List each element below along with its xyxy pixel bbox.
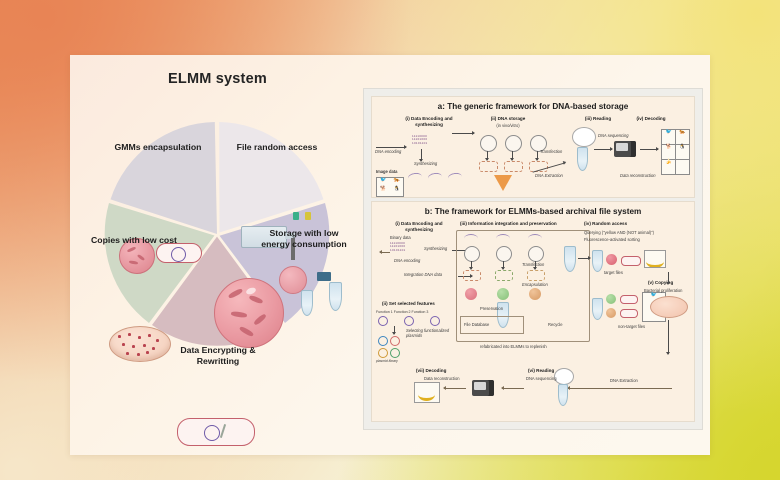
panel-b-note-target-files: target files xyxy=(604,270,623,275)
out-thumb-bird2: 🐧 xyxy=(676,145,689,159)
panel-b-note-plasmid-library: plasmid library xyxy=(376,359,398,363)
panel-b: b: The framework for ELMMs-based archiva… xyxy=(371,201,695,422)
panel-b-target-tube xyxy=(592,250,603,272)
panel-b-note-data-reconstruction: Data reconstruction xyxy=(424,376,460,381)
panel-b-nontarget-capsule-2 xyxy=(620,309,638,318)
panel-b-arrow-extraction xyxy=(568,388,672,389)
figure-card: ELMM system xyxy=(70,55,710,455)
panel-b-arrow-3 xyxy=(394,326,395,334)
panel-a-arrow-9 xyxy=(640,149,658,150)
panel-a-tube-icon xyxy=(577,147,588,171)
segment-label-copies: Copies with low cost xyxy=(78,235,190,246)
panel-b-plasmid-1 xyxy=(378,316,388,326)
encapsulation-capsule-icon xyxy=(156,243,202,263)
panel-b-arrow-decoding xyxy=(444,388,466,389)
panel-b-note-querying: Querying ("yellow AND (NOT animal)") xyxy=(584,230,654,235)
panel-a-arrow-4 xyxy=(487,151,488,160)
panel-a-flask-icon xyxy=(494,175,512,191)
panel-b-lib-2 xyxy=(390,336,400,346)
panel-b-target-bead xyxy=(606,254,617,265)
plasmid-capsule-icon xyxy=(177,418,255,446)
elmm-system-panel: ELMM system xyxy=(70,55,365,455)
panel-a-arrow-6 xyxy=(537,151,538,160)
panel-a-note-image-data: Image data xyxy=(376,169,397,174)
panel-b-target-capsule xyxy=(621,256,641,266)
panel-b-nontarget-bead-1 xyxy=(606,294,616,304)
framework-panels: a: The generic framework for DNA-based s… xyxy=(363,88,703,430)
page-title: ELMM system xyxy=(70,71,365,87)
panel-a-note-dna-extraction: DNA Extraction xyxy=(535,173,563,178)
panel-a-arrow-3 xyxy=(452,133,474,134)
panel-b-note-non-target-files: non-target files xyxy=(618,324,645,329)
segment-label-file: File random access xyxy=(222,142,332,153)
gmm-core-icon xyxy=(214,278,284,348)
panel-a-step-3: (iii) Reading xyxy=(577,116,619,122)
thumb-bird2: 🐧 xyxy=(390,187,403,196)
panel-b-nontarget-tube xyxy=(592,298,603,320)
out-thumb-bird: 🐦 xyxy=(662,130,675,144)
panel-b-petri-icon xyxy=(650,296,688,318)
panel-b-note-fluorescence: Fluorescence-activated sorting xyxy=(584,237,640,242)
out-thumb-banana: 🍌 xyxy=(662,160,675,174)
panel-a-note-data-reconstruction: Data reconstruction xyxy=(620,173,656,178)
tube-freezer-icon xyxy=(279,266,307,294)
panel-b-plasmid-2 xyxy=(404,316,414,326)
segment-label-storage: Storage with low energy consumption xyxy=(256,228,352,250)
panel-b-sequencer-icon xyxy=(472,380,494,396)
panel-b-note-binary-data: Binary data xyxy=(390,235,411,240)
panel-a-cell-1 xyxy=(480,135,497,152)
panel-b-note-functions: Function 1 Function 2 Function 3 xyxy=(376,310,428,315)
panel-a-image-grid: 🐦 🐅 🐕 🐧 xyxy=(376,177,404,197)
panel-a-arrow-8 xyxy=(594,149,612,150)
panel-b-note-dna-encoding: DNA encoding xyxy=(394,258,420,263)
out-thumb-tiger: 🐅 xyxy=(676,130,689,144)
out-thumb-dog: 🐕 xyxy=(662,145,675,159)
segment-label-gmms: GMMs encapsulation xyxy=(98,142,218,153)
panel-a-cell-2 xyxy=(505,135,522,152)
panel-a-note-dna-encoding: DNA encoding xyxy=(375,149,401,154)
panel-b-decoded-thumb-banana xyxy=(414,382,440,403)
panel-b-note-bacterial-proliferation: Bacterial proliferation xyxy=(644,288,682,293)
panel-a-step-4: (iv) Decoding xyxy=(630,116,672,122)
panel-a-output-grid: 🐦 🐅 🐕 🐧 🍌 xyxy=(661,129,690,175)
panel-b-magnifier-icon xyxy=(554,368,574,385)
panel-b-nontarget-bead-2 xyxy=(606,308,616,318)
panel-b-lib-3 xyxy=(378,348,388,358)
panel-b-step-7: (vii) Decoding xyxy=(416,368,446,374)
segment-label-encrypt: Data Encrypting & Rewritting xyxy=(162,345,274,367)
panel-a-magnifier-icon xyxy=(572,127,596,147)
panel-b-target-thumb-banana xyxy=(644,250,666,268)
panel-b-title: b: The framework for ELMMs-based archiva… xyxy=(372,207,694,216)
panel-a-step-2-sub: (in vivo/vitro) xyxy=(484,123,532,128)
panel-b-reading-tube xyxy=(558,384,568,406)
panel-a-title: a: The generic framework for DNA-based s… xyxy=(372,102,694,111)
panel-b-arrow-in xyxy=(380,252,390,253)
panel-b-arrow-reading xyxy=(502,388,524,389)
panel-a-arrow-5 xyxy=(512,151,513,160)
panel-a-arrow-2 xyxy=(421,149,422,161)
panel-b-sorter-tube xyxy=(564,246,576,272)
panel-a-note-synthesizing: Synthesizing xyxy=(414,161,437,166)
panel-b-nontarget-capsule-1 xyxy=(620,295,638,304)
panel-a-sequencer-icon xyxy=(614,141,636,157)
panel-a-step-1: (i) Data Encoding and synthesizing xyxy=(398,116,460,128)
panel-b-lib-1 xyxy=(378,336,388,346)
panel-a-note-dna-sequencing: DNA sequencing xyxy=(598,133,629,138)
panel-a-note-transfection: Transfection xyxy=(540,149,562,154)
thumb-dog: 🐕 xyxy=(377,187,390,196)
panel-b-step-6: (vi) Reading xyxy=(528,368,554,374)
panel-a-step-2: (ii) DNA storage xyxy=(484,116,532,122)
panel-b-note-dna-extraction: DNA Extraction xyxy=(610,378,638,383)
panel-b-note-dna-sequencing: DNA sequencing xyxy=(526,376,557,381)
panel-b-step-2: (ii) Set selected features xyxy=(382,301,435,307)
panel-a: a: The generic framework for DNA-based s… xyxy=(371,96,695,198)
panel-a-arrow-1 xyxy=(376,147,406,148)
out-thumb-blank xyxy=(676,160,689,174)
panel-b-lib-4 xyxy=(390,348,400,358)
